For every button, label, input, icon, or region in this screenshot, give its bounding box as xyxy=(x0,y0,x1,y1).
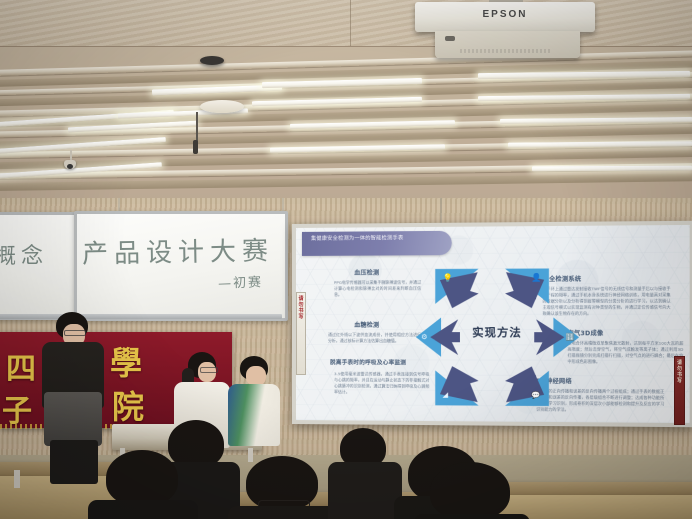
slide-heading-respiration: 脱离手表时的呼吸及心率监测 xyxy=(330,358,406,366)
wheel-segment-right: 🔢 xyxy=(534,316,580,359)
ceiling-dome-light xyxy=(200,100,244,113)
chat-icon: 💬 xyxy=(531,391,540,399)
security-camera xyxy=(64,160,76,169)
audience-desk-front xyxy=(500,495,692,519)
left-no-writing-sign-text: 请勿书写 xyxy=(297,296,305,320)
projector-lower-housing xyxy=(435,31,580,58)
audience-hair xyxy=(106,450,178,506)
right-no-writing-sign-text: 请勿书写 xyxy=(675,360,684,384)
projection-screen: 集健康安全检测为一体的智能检测手表 血压检测 PPG电学传感器可以采集手腕脉搏波… xyxy=(292,221,692,427)
person-icon: 👤 xyxy=(531,274,541,282)
audience-torso xyxy=(88,500,198,519)
wheel-segment-bottom-right: 💬 xyxy=(503,365,551,408)
ceiling-seam xyxy=(350,0,351,46)
audience-hair xyxy=(430,462,510,519)
slide-heading-blood-pressure: 血压检测 xyxy=(354,268,379,277)
audience-member xyxy=(236,456,328,519)
right-no-writing-sign: 请勿书写 xyxy=(674,356,685,425)
epson-projector: EPSON xyxy=(415,0,595,58)
lightbulb-icon: 💡 xyxy=(443,274,453,282)
gear-icon: ⚙ xyxy=(421,333,427,341)
whiteboard-signature-text: —初赛 xyxy=(218,271,264,292)
projector-model-strip xyxy=(460,49,550,53)
presenter-vest xyxy=(44,392,102,446)
audience-torso xyxy=(228,506,338,519)
slide-heading-blood-glucose: 血糖检测 xyxy=(354,320,379,329)
projector-brand-label: EPSON xyxy=(415,9,595,20)
banner-char: 院 xyxy=(112,382,144,428)
slide-body-blood-pressure: PPG电学传感器可以采集手腕脉搏波信号，并通过计算心电检测和脉搏比对的时间差来判… xyxy=(334,280,421,298)
presenter-legs xyxy=(50,440,98,484)
projector-vent xyxy=(445,36,455,41)
slide-body-air-3d: 压电合环高精微双单聚焦激光散射，达到每平方米100大瓦的超高限度；然后击穿空气，… xyxy=(568,340,684,365)
ceiling-light xyxy=(262,78,422,88)
whiteboard-title-text: 产品设计大赛 xyxy=(82,230,275,270)
left-no-writing-sign: 请勿书写 xyxy=(296,292,306,375)
presenter-face xyxy=(246,366,266,386)
slide-body-blood-glucose: 通过红外线以下波供血流成份，并使用相应方法进行分析，通过核标计算方法估算出血糖值… xyxy=(328,332,421,344)
wheel-segment-bottom-left: ◢ xyxy=(433,364,480,407)
hanging-cable-end xyxy=(193,140,198,154)
presentation-slide: 集健康安全检测为一体的智能检测手表 血压检测 PPG电学传感器可以采集手腕脉搏波… xyxy=(296,225,690,423)
ceiling-light xyxy=(508,141,692,147)
banner-char: 四 xyxy=(6,344,36,388)
desk-leg xyxy=(14,470,20,488)
audience-member xyxy=(420,462,520,519)
wheel-segment-top-left: 💡 xyxy=(433,267,480,310)
wheel-segment-top-right: 👤 xyxy=(503,267,551,310)
audience-member xyxy=(334,428,394,519)
classroom-presentation-photo: EPSON 概念 产品设计大赛 —初赛 四 大 學 子 學 院 集健康安全检测为… xyxy=(0,0,692,519)
whiteboard-left-text: 概念 xyxy=(0,238,48,271)
audience-torso xyxy=(414,514,530,519)
audience-member xyxy=(96,450,188,519)
banner-char: 學 xyxy=(110,338,142,384)
ceiling-light xyxy=(532,166,692,172)
diagram-center-label: 实现方法 xyxy=(454,324,541,340)
slide-title: 集健康安全检测为一体的智能检测手表 xyxy=(302,231,452,256)
glasses xyxy=(200,367,218,373)
presenter-jacket xyxy=(228,384,280,446)
seated-presenter-right xyxy=(226,356,282,444)
glasses xyxy=(64,330,86,336)
share-icon: ◢ xyxy=(443,391,449,399)
ceiling-speaker xyxy=(200,56,224,65)
settings-icon: 🔢 xyxy=(565,333,574,341)
implementation-methods-diagram: 💡 👤 ⚙ 🔢 xyxy=(415,265,580,408)
audience-torso xyxy=(328,462,402,519)
